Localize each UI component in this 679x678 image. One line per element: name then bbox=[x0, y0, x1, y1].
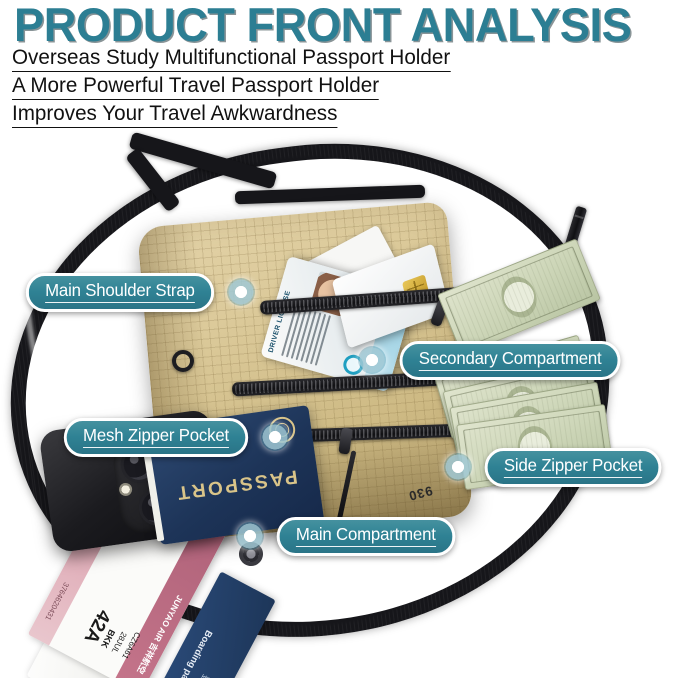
subtitle-line-2: A More Powerful Travel Passport Holder bbox=[12, 73, 379, 100]
camera-flash-icon bbox=[118, 482, 133, 497]
callout-secondary-compartment[interactable]: Secondary Compartment bbox=[358, 341, 625, 380]
callout-marker-dot-icon bbox=[236, 522, 264, 550]
callout-pill[interactable]: Side Zipper Pocket bbox=[485, 448, 662, 487]
callout-pill[interactable]: Mesh Zipper Pocket bbox=[64, 418, 248, 457]
header: PRODUCT FRONT ANALYSIS Overseas Study Mu… bbox=[0, 0, 679, 128]
callout-main-shoulder-strap[interactable]: Main Shoulder Strap bbox=[22, 273, 255, 312]
callout-marker-dot-icon bbox=[358, 346, 386, 374]
callout-label: Side Zipper Pocket bbox=[504, 455, 642, 478]
boarding-pass-tag-label: Boarding pass bbox=[173, 628, 214, 678]
callout-label: Main Compartment bbox=[296, 524, 436, 547]
callout-side-zipper-pocket[interactable]: Side Zipper Pocket bbox=[444, 448, 665, 487]
subtitle-line-1: Overseas Study Multifunctional Passport … bbox=[12, 45, 450, 72]
callout-marker-dot-icon bbox=[444, 453, 472, 481]
callout-marker-dot-icon bbox=[261, 423, 289, 451]
callout-label: Secondary Compartment bbox=[419, 348, 602, 371]
callout-mesh-zipper-pocket[interactable]: Mesh Zipper Pocket bbox=[60, 418, 289, 457]
subtitle-line-3: Improves Your Travel Awkwardness bbox=[12, 101, 337, 128]
callout-label: Mesh Zipper Pocket bbox=[83, 425, 229, 448]
callout-main-compartment[interactable]: Main Compartment bbox=[236, 517, 459, 556]
callout-pill[interactable]: Secondary Compartment bbox=[400, 341, 621, 380]
callout-label: Main Shoulder Strap bbox=[45, 280, 195, 303]
product-infographic: PRODUCT FRONT ANALYSIS Overseas Study Mu… bbox=[0, 0, 679, 678]
license-text-lines bbox=[281, 306, 334, 367]
d-ring-hardware-icon bbox=[172, 350, 194, 372]
callout-marker-dot-icon bbox=[227, 278, 255, 306]
page-title: PRODUCT FRONT ANALYSIS bbox=[14, 2, 631, 50]
product-photo: DRIVER LICENSE bbox=[0, 128, 679, 678]
callout-pill[interactable]: Main Compartment bbox=[277, 517, 455, 556]
callout-pill[interactable]: Main Shoulder Strap bbox=[26, 273, 214, 312]
passport-cover-text: PASSPORT bbox=[173, 465, 298, 504]
